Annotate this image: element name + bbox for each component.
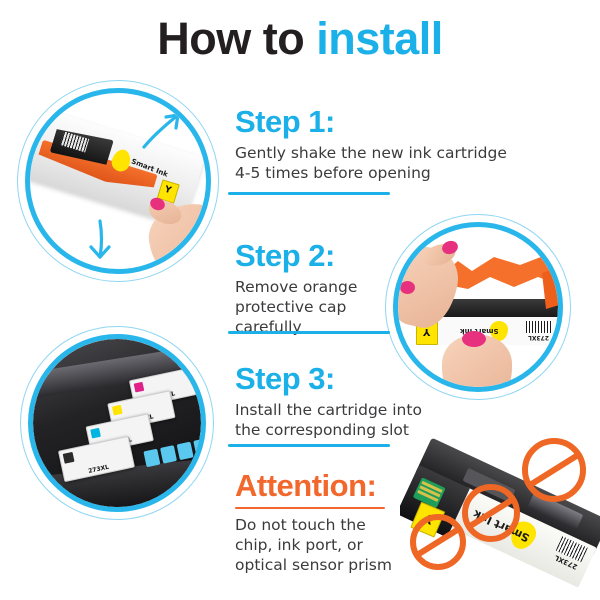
step-1-text: Step 1: Gently shake the new ink cartrid… <box>235 106 535 183</box>
shake-arrow-up-icon <box>138 107 184 151</box>
slot-cartridge: 273XL <box>58 436 135 482</box>
step-1-photo: Smart Ink Y <box>30 93 206 269</box>
divider-attention <box>228 444 390 447</box>
shake-arrow-down-icon <box>82 217 122 263</box>
step-3-heading: Step 3: <box>235 363 535 396</box>
step-1-heading: Step 1: <box>235 106 535 139</box>
step-3-photo: 273XL 273XL 273XL 273XL <box>33 339 201 507</box>
fingernail-lower <box>462 331 486 347</box>
page-title: How to install <box>0 16 600 61</box>
cartridge-code-label: 273XL <box>528 334 549 341</box>
step-1-image: Smart Ink Y <box>25 88 211 274</box>
orange-protective-cap <box>442 251 558 313</box>
infographic-page: How to install Smart Ink Y <box>0 0 600 600</box>
step-3-image: 273XL 273XL 273XL 273XL <box>28 334 206 512</box>
step-1-line-2: 4-5 times before opening <box>235 163 535 183</box>
attention-underline <box>235 507 385 509</box>
fingernail-side <box>400 281 415 294</box>
page-title-lead: How to <box>157 13 316 64</box>
step-3-line-1: Install the cartridge into <box>235 400 535 420</box>
step-1-body: Gently shake the new ink cartridge 4-5 t… <box>235 143 535 183</box>
page-title-accent: install <box>316 13 443 64</box>
divider-step-3 <box>228 331 390 334</box>
step-3-text: Step 3: Install the cartridge into the c… <box>235 363 535 440</box>
divider-step-2 <box>228 192 390 195</box>
step-1-line-1: Gently shake the new ink cartridge <box>235 143 535 163</box>
attention-image: Y Smart Ink 273XL <box>400 432 600 600</box>
slot-label: 273XL <box>64 459 134 480</box>
